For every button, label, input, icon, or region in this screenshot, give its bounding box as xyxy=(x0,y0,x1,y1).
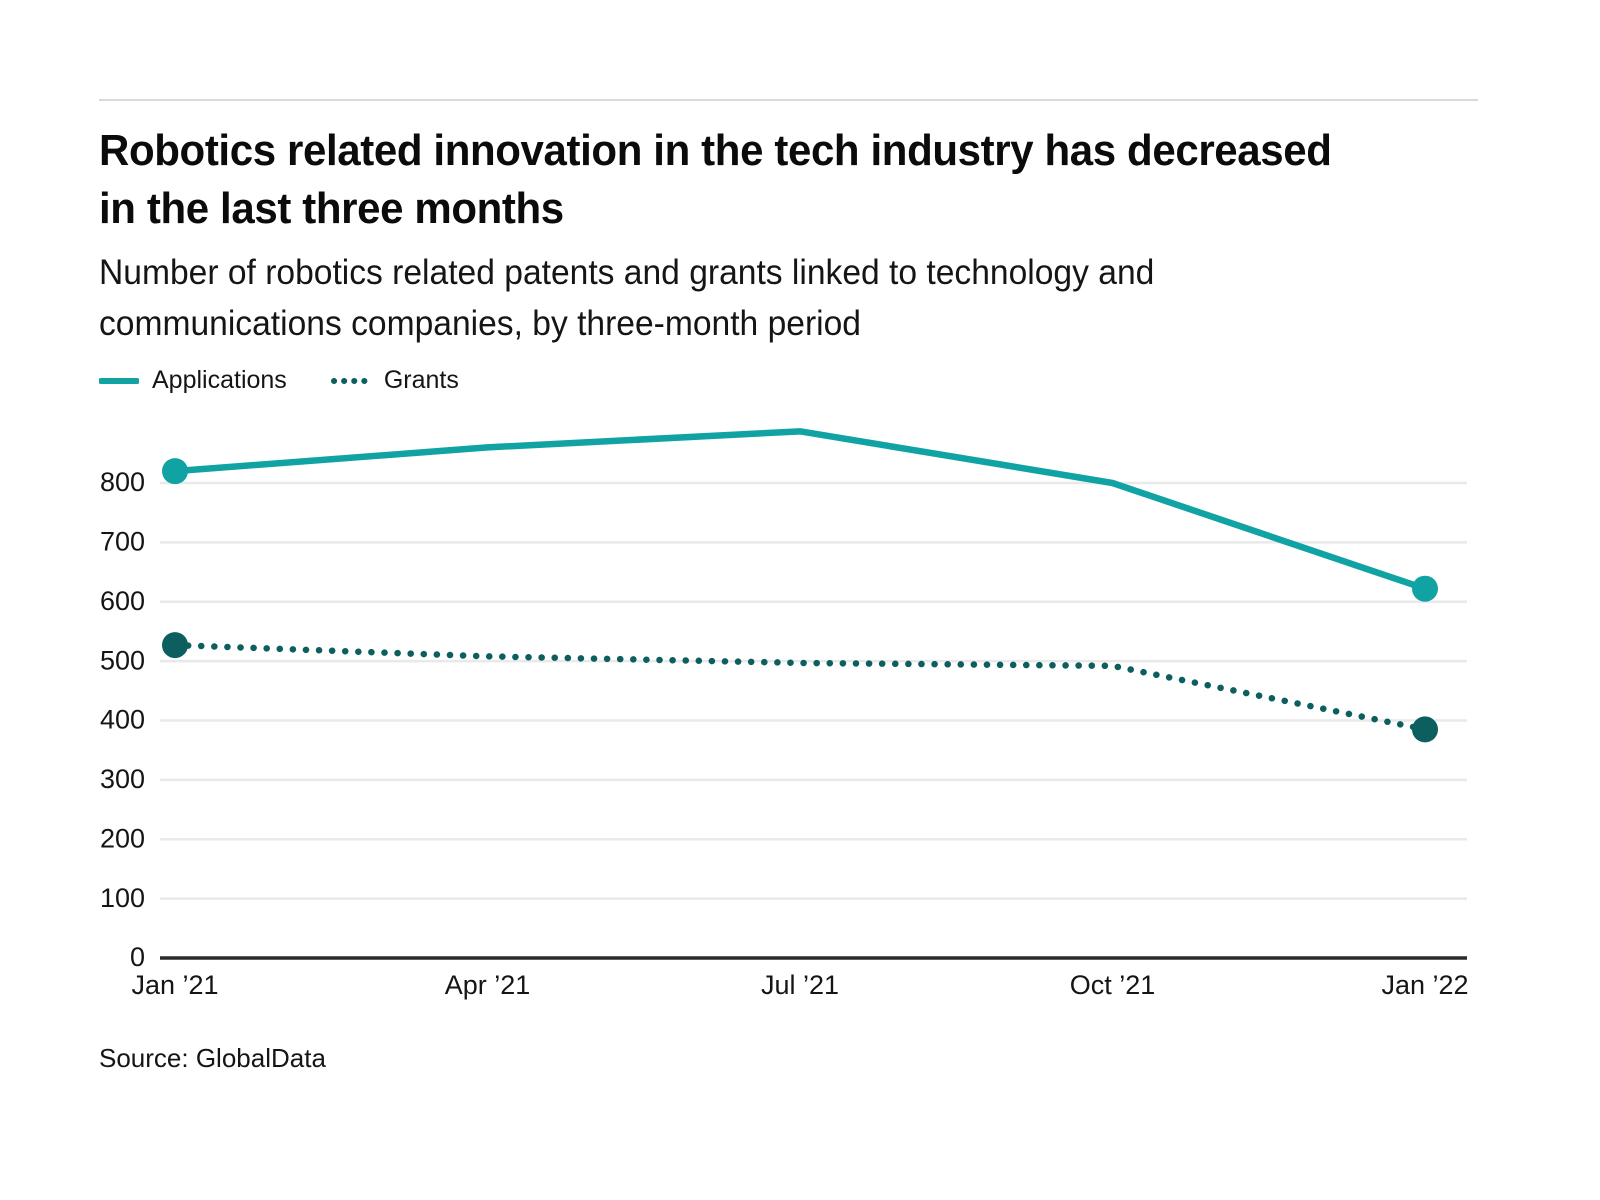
x-axis-tick-label: Jan ’21 xyxy=(131,970,218,1000)
y-axis-tick-label: 800 xyxy=(100,467,145,497)
y-axis-tick-labels: 0100200300400500600700800 xyxy=(100,467,145,972)
x-axis-tick-label: Oct ’21 xyxy=(1070,970,1156,1000)
source-note: Source: GlobalData xyxy=(99,1043,326,1074)
x-axis-tick-labels: Jan ’21Apr ’21Jul ’21Oct ’21Jan ’22 xyxy=(131,970,1468,1000)
y-axis-tick-label: 200 xyxy=(100,823,145,853)
x-axis-tick-label: Apr ’21 xyxy=(445,970,531,1000)
y-axis-tick-label: 700 xyxy=(100,527,145,557)
x-axis-tick-label: Jul ’21 xyxy=(761,970,839,1000)
y-axis-tick-label: 0 xyxy=(130,942,145,972)
y-axis-tick-label: 600 xyxy=(100,586,145,616)
series-group xyxy=(162,431,1438,742)
series-line-grants xyxy=(175,645,1425,729)
y-axis-tick-label: 400 xyxy=(100,705,145,735)
data-point-marker[interactable] xyxy=(1412,576,1438,602)
chart-page: Robotics related innovation in the tech … xyxy=(0,0,1600,1200)
plot-area: 0100200300400500600700800 Jan ’21Apr ’21… xyxy=(0,0,1600,1200)
series-line-applications xyxy=(175,431,1425,588)
y-axis-tick-label: 500 xyxy=(100,645,145,675)
x-axis-tick-label: Jan ’22 xyxy=(1381,970,1468,1000)
y-axis-tick-label: 100 xyxy=(100,883,145,913)
data-point-marker[interactable] xyxy=(162,458,188,484)
data-point-marker[interactable] xyxy=(1412,716,1438,742)
gridlines xyxy=(160,483,1467,899)
chart-svg: 0100200300400500600700800 Jan ’21Apr ’21… xyxy=(0,0,1600,1200)
data-point-marker[interactable] xyxy=(162,632,188,658)
y-axis-tick-label: 300 xyxy=(100,764,145,794)
